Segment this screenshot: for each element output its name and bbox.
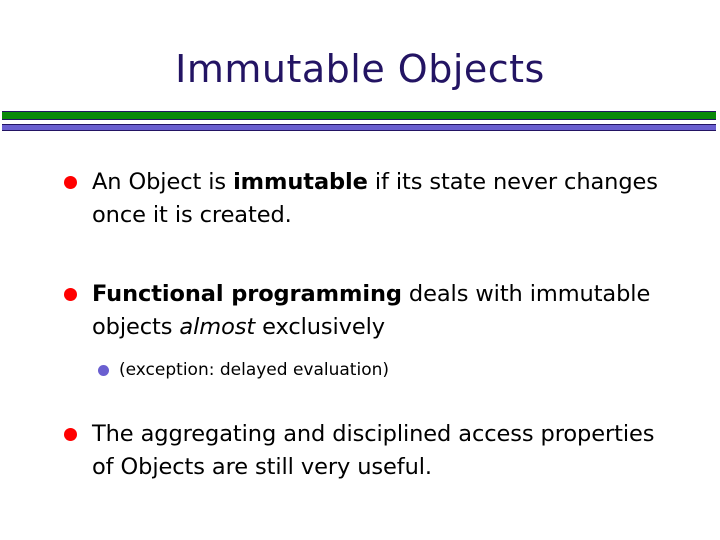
blue-round-bullet-icon — [98, 365, 109, 376]
list-item: Functional programming deals with immuta… — [64, 278, 664, 344]
list-item: The aggregating and disciplined access p… — [64, 418, 664, 484]
list-item-text: The aggregating and disciplined access p… — [92, 418, 664, 484]
sub-list-item-text: (exception: delayed evaluation) — [119, 358, 658, 382]
red-round-bullet-icon — [64, 176, 77, 189]
divider-green-bar — [2, 111, 716, 120]
red-round-bullet-icon — [64, 288, 77, 301]
page-title: Immutable Objects — [0, 50, 720, 90]
slide-canvas: Immutable Objects An Object is immutable… — [0, 0, 720, 540]
title-divider — [2, 111, 716, 133]
list-item: An Object is immutable if its state neve… — [64, 166, 664, 232]
sub-list-item: (exception: delayed evaluation) — [98, 358, 658, 382]
red-round-bullet-icon — [64, 428, 77, 441]
slide-body: An Object is immutable if its state neve… — [0, 152, 720, 540]
list-item-text: An Object is immutable if its state neve… — [92, 166, 664, 232]
divider-purple-bar — [2, 124, 716, 131]
list-item-text: Functional programming deals with immuta… — [92, 278, 664, 344]
